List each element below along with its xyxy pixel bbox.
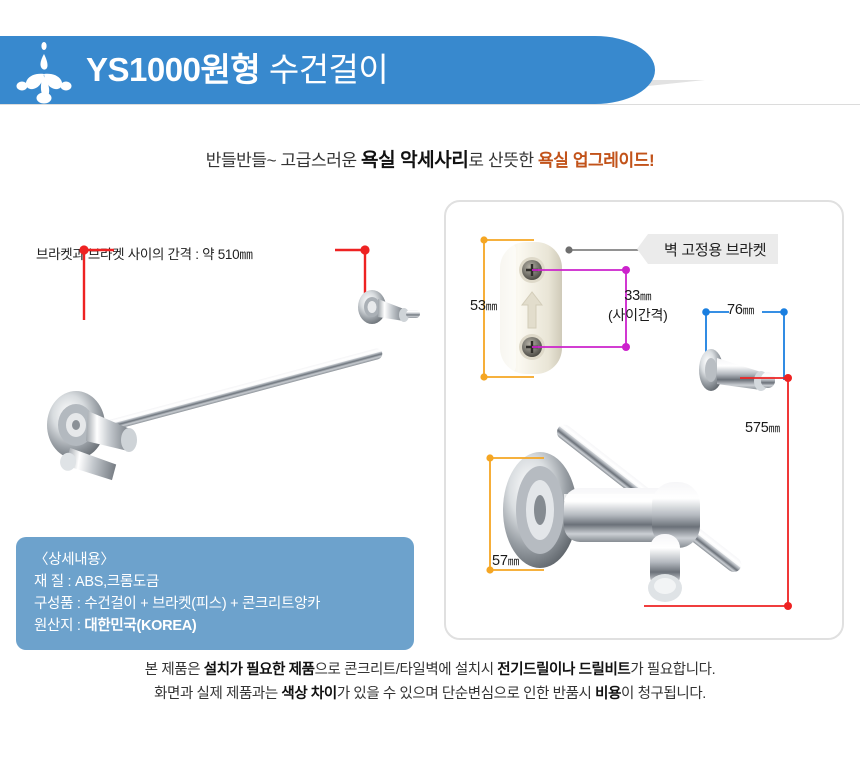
spec-heading: 〈상세내용〉 [34, 549, 414, 571]
notice-line-1: 본 제품은 설치가 필요한 제품으로 콘크리트/타일벽에 설치시 전기드릴이나 … [0, 658, 860, 682]
spec-origin-label: 원산지 : [34, 618, 84, 634]
dimension-label-575mm: 575㎜ [745, 420, 780, 436]
notice-2e: 이 청구됩니다. [621, 686, 706, 702]
spec-row-material: 재 질 : ABS,크롬도금 [34, 571, 414, 593]
wall-bracket-image [500, 242, 562, 374]
dimension-label-53mm: 53㎜ [470, 298, 497, 314]
notice-1d: 전기드릴이나 드릴비트 [497, 662, 630, 678]
title-code: YS1000원형 [86, 51, 260, 88]
dim-33-unit: ㎜ [640, 291, 651, 303]
subtitle-strong: 욕실 악세사리 [361, 150, 468, 171]
notice-1c: 으로 콘크리트/타일벽에 설치시 [315, 662, 498, 678]
dim-57-unit: ㎜ [508, 556, 519, 568]
spec-material-value: ABS,크롬도금 [75, 574, 159, 590]
right-panel-graphics [444, 200, 844, 640]
dim-575-value: 575 [745, 420, 769, 436]
subtitle-part1: 반들반들~ 고급스러운 [206, 151, 361, 170]
wall-bracket-callout: 벽 고정용 브라켓 [648, 234, 778, 264]
notice-1b: 설치가 필요한 제품 [204, 662, 315, 678]
notice-line-2: 화면과 실제 제품과는 색상 차이가 있을 수 있으며 단순변심으로 인한 반품… [0, 682, 860, 706]
dim-33-value: 33 [624, 288, 640, 304]
notice-2c: 가 있을 수 있으며 단순변심으로 인한 반품시 [337, 686, 595, 702]
dimension-label-57mm: 57㎜ [492, 553, 519, 569]
dim-53-unit: ㎜ [486, 301, 497, 313]
water-splash-icon [14, 42, 74, 104]
notice-1e: 가 필요합니다. [630, 662, 715, 678]
title-name: 수건걸이 [269, 51, 388, 88]
spec-row-components: 구성품 : 수건걸이 + 브라켓(피스) + 콘크리트앙카 [34, 593, 414, 615]
dimension-label-76mm: 76㎜ [727, 302, 754, 318]
spec-components-value: 수건걸이 + 브라켓(피스) + 콘크리트앙카 [84, 596, 320, 612]
spec-components-label: 구성품 : [34, 596, 84, 612]
notice-2a: 화면과 실제 제품과는 [154, 686, 281, 702]
towel-bar-photo [28, 265, 438, 525]
dim-76-value: 76 [727, 302, 743, 318]
dim-57-value: 57 [492, 553, 508, 569]
spec-row-origin: 원산지 : 대한민국(KOREA) [34, 615, 414, 637]
notice-2b: 색상 차이 [281, 686, 336, 702]
page-title: YS1000원형 수건걸이 [86, 48, 388, 92]
dimension-label-33mm: 33㎜(사이간격) [608, 288, 668, 325]
header-divider [0, 104, 860, 105]
spec-origin-value: 대한민국(KOREA) [84, 618, 196, 634]
left-product-area: 브라켓과 브라켓 사이의 간격 : 약 510㎜ [18, 195, 438, 535]
installation-notice: 본 제품은 설치가 필요한 제품으로 콘크리트/타일벽에 설치시 전기드릴이나 … [0, 658, 860, 706]
subtitle-accent: 욕실 업그레이드! [538, 151, 654, 170]
product-detail-page: YS1000원형 수건걸이 반들반들~ 고급스러운 욕실 악세사리로 산뜻한 욕… [0, 0, 860, 760]
dim-53-value: 53 [470, 298, 486, 314]
header-banner: YS1000원형 수건걸이 [0, 36, 860, 106]
subtitle-part2: 로 산뜻한 [468, 151, 538, 170]
promo-subtitle: 반들반들~ 고급스러운 욕실 악세사리로 산뜻한 욕실 업그레이드! [0, 148, 860, 174]
assembly-side-view [503, 349, 775, 602]
notice-1a: 본 제품은 [145, 662, 204, 678]
dim-33-note: (사이간격) [608, 305, 668, 325]
notice-2d: 비용 [595, 686, 621, 702]
product-spec-box: 〈상세내용〉 재 질 : ABS,크롬도금 구성품 : 수건걸이 + 브라켓(피… [16, 537, 414, 650]
spec-material-label: 재 질 : [34, 574, 75, 590]
dim-575-unit: ㎜ [769, 423, 780, 435]
dim-76-unit: ㎜ [743, 305, 754, 317]
